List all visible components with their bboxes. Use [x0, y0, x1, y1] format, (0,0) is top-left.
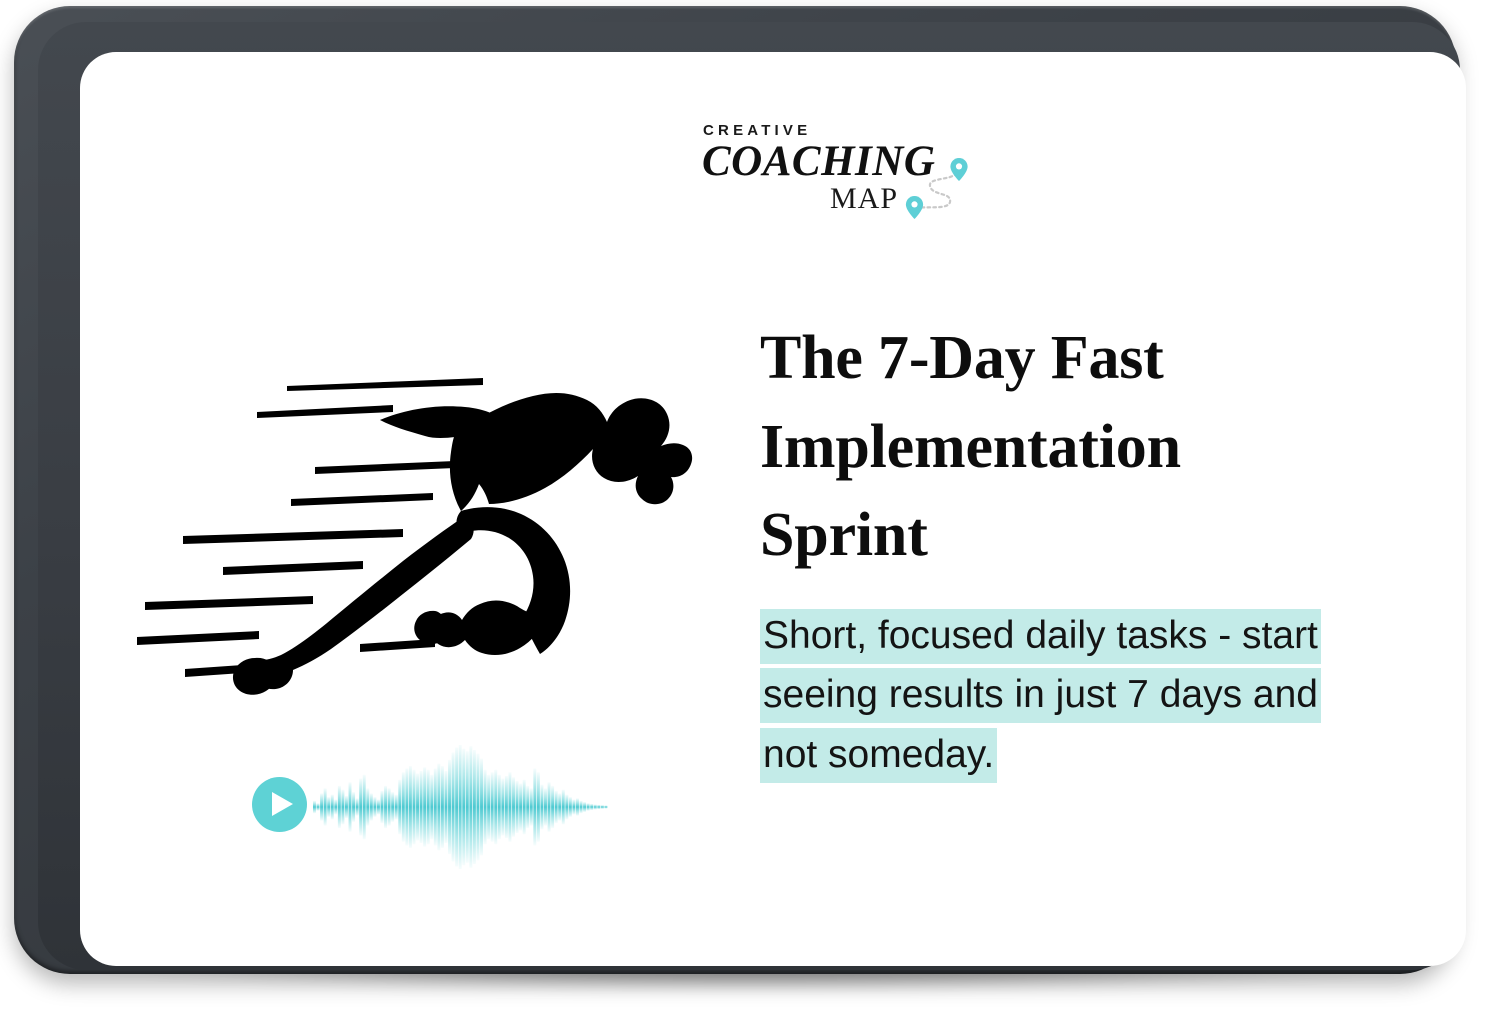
play-button[interactable] [252, 777, 307, 832]
tablet-screen: CREATIVE COACHING MAP [80, 52, 1466, 966]
sprinting-runner-silhouette-icon [135, 364, 715, 709]
map-route-pins-icon [898, 152, 976, 222]
audio-waveform-icon[interactable] [313, 742, 608, 872]
tablet-inner-rim: CREATIVE COACHING MAP [38, 22, 1460, 970]
screenshot-canvas: CREATIVE COACHING MAP [0, 0, 1500, 1024]
tablet-bezel: CREATIVE COACHING MAP [14, 6, 1456, 974]
audio-player[interactable] [208, 742, 608, 872]
play-icon [272, 792, 293, 816]
page-title: The 7-Day Fast Implementation Sprint [760, 314, 1360, 580]
logo-line-map: MAP [830, 182, 898, 216]
brand-logo[interactable]: CREATIVE COACHING MAP [670, 120, 990, 230]
page-subtitle-highlight: Short, focused daily tasks - start seein… [760, 609, 1321, 783]
page-subtitle: Short, focused daily tasks - start seein… [760, 606, 1370, 784]
